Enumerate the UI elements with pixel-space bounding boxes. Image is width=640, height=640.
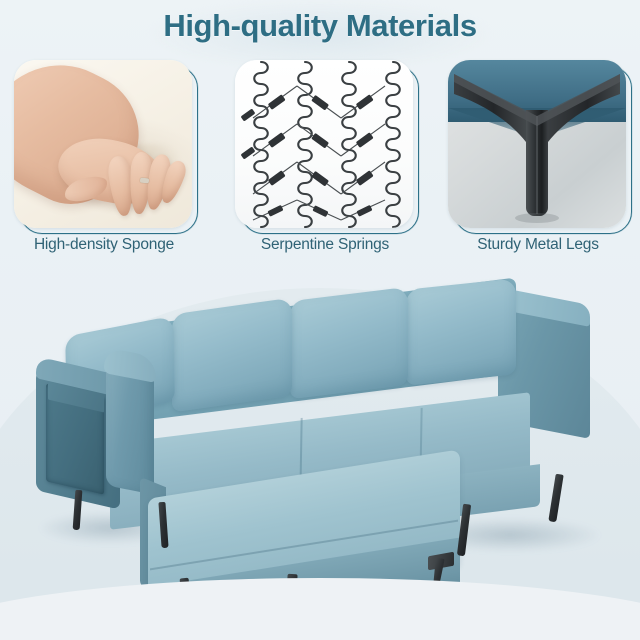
feature-image-legs bbox=[448, 60, 626, 228]
sponge-foam-surface bbox=[14, 60, 192, 228]
feature-caption-legs: Sturdy Metal Legs bbox=[444, 236, 632, 254]
feature-panel-row: High-density Sponge bbox=[0, 60, 640, 270]
ring-jewellery bbox=[140, 178, 149, 184]
product-feature-page: High-quality Materials bbox=[0, 0, 640, 640]
back-cushion-3 bbox=[290, 287, 408, 399]
metal-leg-silhouette bbox=[448, 60, 626, 228]
springs-surface bbox=[235, 60, 413, 228]
sofa-leg-7 bbox=[548, 474, 563, 523]
feature-image-springs bbox=[235, 60, 413, 228]
feature-caption-sponge: High-density Sponge bbox=[8, 236, 200, 254]
feature-card-sponge[interactable]: High-density Sponge bbox=[14, 60, 194, 230]
feature-thumbnail-wrap-legs bbox=[448, 60, 628, 230]
hero-product-photo bbox=[0, 268, 640, 640]
feature-caption-springs: Serpentine Springs bbox=[235, 236, 415, 254]
page-title: High-quality Materials bbox=[0, 8, 640, 44]
serpentine-springs-diagram bbox=[235, 60, 413, 228]
feature-thumbnail-wrap-sponge bbox=[14, 60, 194, 230]
feature-card-springs[interactable]: Serpentine Springs bbox=[235, 60, 415, 230]
feature-thumbnail-wrap-springs bbox=[235, 60, 415, 230]
metal-leg-scene bbox=[448, 60, 626, 228]
back-cushion-2 bbox=[172, 298, 292, 413]
back-cushion-4 bbox=[406, 278, 516, 386]
feature-image-sponge bbox=[14, 60, 192, 228]
feature-card-legs[interactable]: Sturdy Metal Legs bbox=[448, 60, 628, 230]
